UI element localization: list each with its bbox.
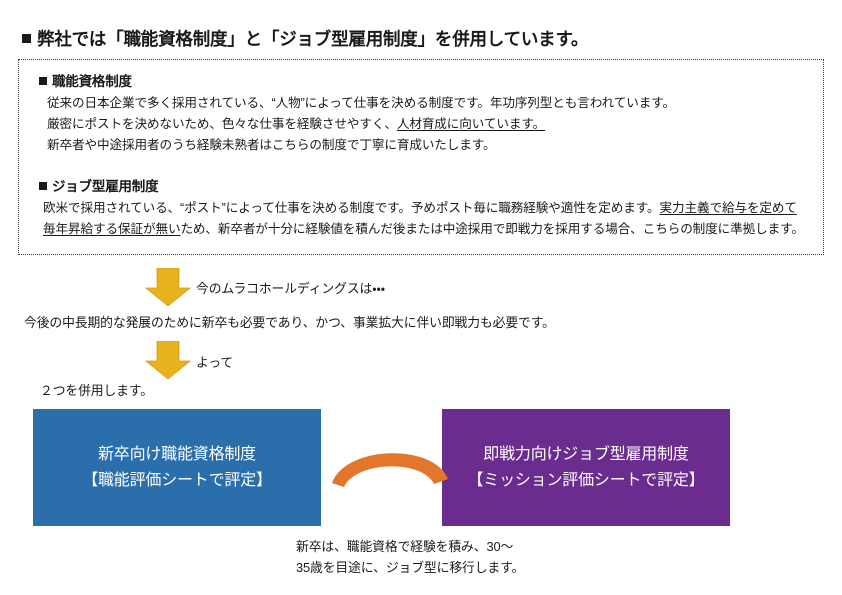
bottom-caption-line2: 35歳を目途に、ジョブ型に移行します。 — [296, 557, 524, 578]
section-heading-shokuno-label: 職能資格制度 — [52, 74, 132, 89]
concept-box-job-type: 即戦力向けジョブ型雇用制度 【ミッション評価シートで評定】 — [442, 409, 730, 526]
shokuno-line-2: 厳密にポストを決めないため、色々な仕事を経験させやすく、人材育成に向いています。 — [47, 114, 813, 135]
bottom-caption: 新卒は、職能資格で経験を積み、30～ 35歳を目途に、ジョブ型に移行します。 — [296, 536, 524, 578]
shokuno-line-2-plain: 厳密にポストを決めないため、色々な仕事を経験させやすく、 — [47, 117, 397, 131]
jobgata-line-1-underlined: 実力主義で給与を定めて — [659, 201, 796, 215]
page-title: 弊社では「職能資格制度」と「ジョブ型雇用制度」を併用しています。 — [22, 26, 588, 51]
flow-text-need: 今後の中長期的な発展のために新卒も必要であり、かつ、事業拡大に伴い即戦力も必要で… — [24, 312, 555, 331]
concept-box-new-graduate-line2: 【職能評価シートで評定】 — [82, 468, 272, 494]
shokuno-line-3: 新卒者や中途採用者のうち経験未熟者はこちらの制度で丁寧に育成いたします。 — [47, 135, 813, 156]
square-bullet-icon — [22, 34, 31, 43]
concept-box-new-graduate-line1: 新卒向け職能資格制度 — [98, 442, 256, 468]
concept-box-job-type-line1: 即戦力向けジョブ型雇用制度 — [483, 442, 688, 468]
bottom-caption-line1: 新卒は、職能資格で経験を積み、30～ — [296, 536, 524, 557]
square-bullet-icon — [39, 77, 47, 85]
jobgata-line-1: 欧米で採用されている、“ポスト”によって仕事を決める制度です。予めポスト毎に職務… — [43, 198, 813, 219]
jobgata-line-2-plain: ため、新卒者が十分に経験値を積んだ後または中途採用で即戦力を採用する場合、こちら… — [180, 222, 803, 236]
concept-box-new-graduate: 新卒向け職能資格制度 【職能評価シートで評定】 — [33, 409, 321, 526]
shokuno-line-1: 従来の日本企業で多く採用されている、“人物”によって仕事を決める制度です。年功序… — [47, 93, 813, 114]
section-spacer — [29, 156, 813, 173]
section-body-shokuno: 従来の日本企業で多く採用されている、“人物”によって仕事を決める制度です。年功序… — [47, 93, 813, 156]
section-heading-shokuno: 職能資格制度 — [39, 70, 813, 90]
curved-arrow-icon — [330, 437, 455, 499]
square-bullet-icon — [39, 182, 47, 190]
down-arrow-icon — [145, 268, 191, 306]
section-heading-jobgata-label: ジョブ型雇用制度 — [52, 179, 158, 194]
definitions-panel: 職能資格制度 従来の日本企業で多く採用されている、“人物”によって仕事を決める制… — [18, 59, 824, 255]
down-arrow-icon — [145, 341, 191, 379]
jobgata-line-2: 毎年昇給する保証が無いため、新卒者が十分に経験値を積んだ後または中途採用で即戦力… — [43, 219, 813, 240]
flow-label-current-state: 今のムラコホールディングスは・・・ — [196, 278, 385, 297]
section-heading-jobgata: ジョブ型雇用制度 — [39, 175, 813, 195]
flow-label-therefore: よって — [196, 352, 233, 371]
section-body-jobgata: 欧米で採用されている、“ポスト”によって仕事を決める制度です。予めポスト毎に職務… — [43, 198, 813, 240]
jobgata-line-2-underlined: 毎年昇給する保証が無い — [43, 222, 180, 236]
jobgata-line-1-plain: 欧米で採用されている、“ポスト”によって仕事を決める制度です。予めポスト毎に職務… — [43, 201, 659, 215]
concept-box-job-type-line2: 【ミッション評価シートで評定】 — [467, 468, 704, 494]
shokuno-line-2-underlined: 人材育成に向いています。 — [397, 117, 545, 131]
page-title-text: 弊社では「職能資格制度」と「ジョブ型雇用制度」を併用しています。 — [37, 29, 588, 49]
flow-text-combine: ２つを併用します。 — [40, 380, 153, 399]
